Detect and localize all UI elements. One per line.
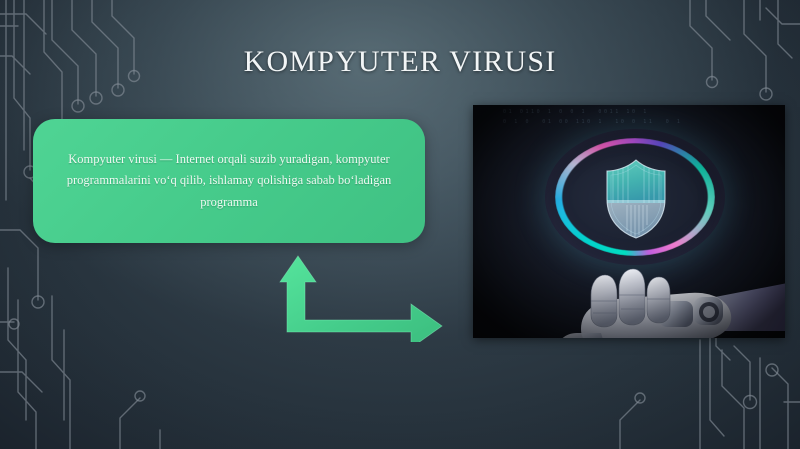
robot-hand-shield-image: 01 0110 1 0 0 1 0011 10 1 0 1 0 01 00 11… [473, 105, 785, 338]
robotic-hand-icon [533, 257, 785, 338]
security-shield-icon [601, 157, 671, 241]
definition-text: Kompyuter virusi — Internet orqali suzib… [59, 149, 399, 214]
presentation-slide: KOMPYUTER VIRUSI Kompyuter virusi — Inte… [0, 0, 800, 449]
definition-card: Kompyuter virusi — Internet orqali suzib… [33, 119, 425, 243]
binary-code-overlay: 01 0110 1 0 0 1 0011 10 1 0 1 0 01 00 11… [503, 108, 753, 127]
page-title: KOMPYUTER VIRUSI [0, 45, 800, 79]
up-right-elbow-arrow [278, 252, 446, 342]
